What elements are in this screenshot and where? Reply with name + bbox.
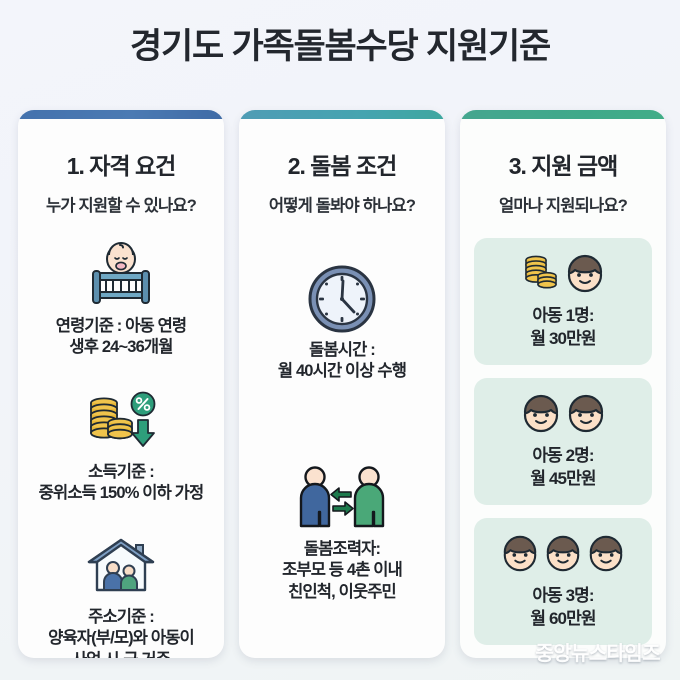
watermark: 중앙뉴스타임즈 bbox=[535, 637, 660, 666]
feature-label: 돌봄조력자: bbox=[247, 539, 437, 560]
card-subheading: 얼마나 지원되나요? bbox=[460, 192, 666, 216]
feature-label: 돌봄시간 : bbox=[247, 340, 437, 361]
feature-detail-2: 친인척, 이웃주민 bbox=[247, 582, 437, 603]
amount-value: 월 60만원 bbox=[480, 608, 646, 631]
feature-detail: 양육자(부/모)와 아동이 bbox=[26, 628, 216, 649]
feature-care-helper: 돌봄조력자: 조부모 등 4촌 이내 친인척, 이웃주민 bbox=[239, 461, 445, 603]
feature-age-criteria: 연령기준 : 아동 연령 생후 24~36개월 bbox=[18, 238, 224, 359]
feature-label: 소득기준 : bbox=[26, 462, 216, 483]
feature-detail-2: 사업 시·군 거주 bbox=[26, 650, 216, 658]
amount-list: 아동 1명: 월 30만원 bbox=[460, 238, 666, 645]
feature-detail: 생후 24~36개월 bbox=[26, 337, 216, 358]
amount-tile-3-children: 아동 3명: 월 60만원 bbox=[474, 518, 652, 645]
card-subheading: 어떻게 돌봐야 하나요? bbox=[239, 192, 445, 216]
card-heading: 3. 지원 금액 bbox=[460, 147, 666, 181]
two-people-exchange-icon bbox=[247, 461, 437, 535]
criteria-columns: 1. 자격 요건 누가 지원할 수 있나요? bbox=[18, 110, 666, 658]
amount-label: 아동 3명: bbox=[480, 585, 646, 608]
page-title: 경기도 가족돌봄수당 지원기준 bbox=[0, 26, 680, 68]
feature-address-criteria: 주소기준 : 양육자(부/모)와 아동이 사업 시·군 거주 bbox=[18, 529, 224, 658]
feature-income-criteria: 소득기준 : 중위소득 150% 이하 가정 bbox=[18, 384, 224, 505]
three-children-icon bbox=[480, 530, 646, 578]
card-support-amount: 3. 지원 금액 얼마나 지원되나요? bbox=[460, 110, 666, 658]
card-eligibility: 1. 자격 요건 누가 지원할 수 있나요? bbox=[18, 110, 224, 658]
baby-crib-icon bbox=[26, 238, 216, 312]
card-subheading: 누가 지원할 수 있나요? bbox=[18, 192, 224, 216]
card-heading: 2. 돌봄 조건 bbox=[239, 147, 445, 181]
feature-care-hours: 돌봄시간 : 월 40시간 이상 수행 bbox=[239, 262, 445, 383]
amount-tile-1-child: 아동 1명: 월 30만원 bbox=[474, 238, 652, 365]
card-care-conditions: 2. 돌봄 조건 어떻게 돌봐야 하나요? bbox=[239, 110, 445, 658]
card-accent-bar bbox=[239, 110, 445, 119]
feature-detail: 월 40시간 이상 수행 bbox=[247, 361, 437, 382]
amount-value: 월 45만원 bbox=[480, 468, 646, 491]
feature-detail: 조부모 등 4촌 이내 bbox=[247, 560, 437, 581]
amount-label: 아동 2명: bbox=[480, 445, 646, 468]
coins-percent-down-icon bbox=[26, 384, 216, 458]
house-family-icon bbox=[26, 529, 216, 603]
clock-icon bbox=[247, 262, 437, 336]
amount-label: 아동 1명: bbox=[480, 305, 646, 328]
feature-label: 주소기준 : bbox=[26, 607, 216, 628]
feature-label: 연령기준 : 아동 연령 bbox=[26, 316, 216, 337]
card-heading: 1. 자격 요건 bbox=[18, 147, 224, 181]
coins-and-one-child-icon bbox=[480, 250, 646, 298]
two-children-icon bbox=[480, 390, 646, 438]
feature-detail: 중위소득 150% 이하 가정 bbox=[26, 483, 216, 504]
card-accent-bar bbox=[18, 110, 224, 119]
amount-value: 월 30만원 bbox=[480, 328, 646, 351]
amount-tile-2-children: 아동 2명: 월 45만원 bbox=[474, 378, 652, 505]
card-accent-bar bbox=[460, 110, 666, 119]
